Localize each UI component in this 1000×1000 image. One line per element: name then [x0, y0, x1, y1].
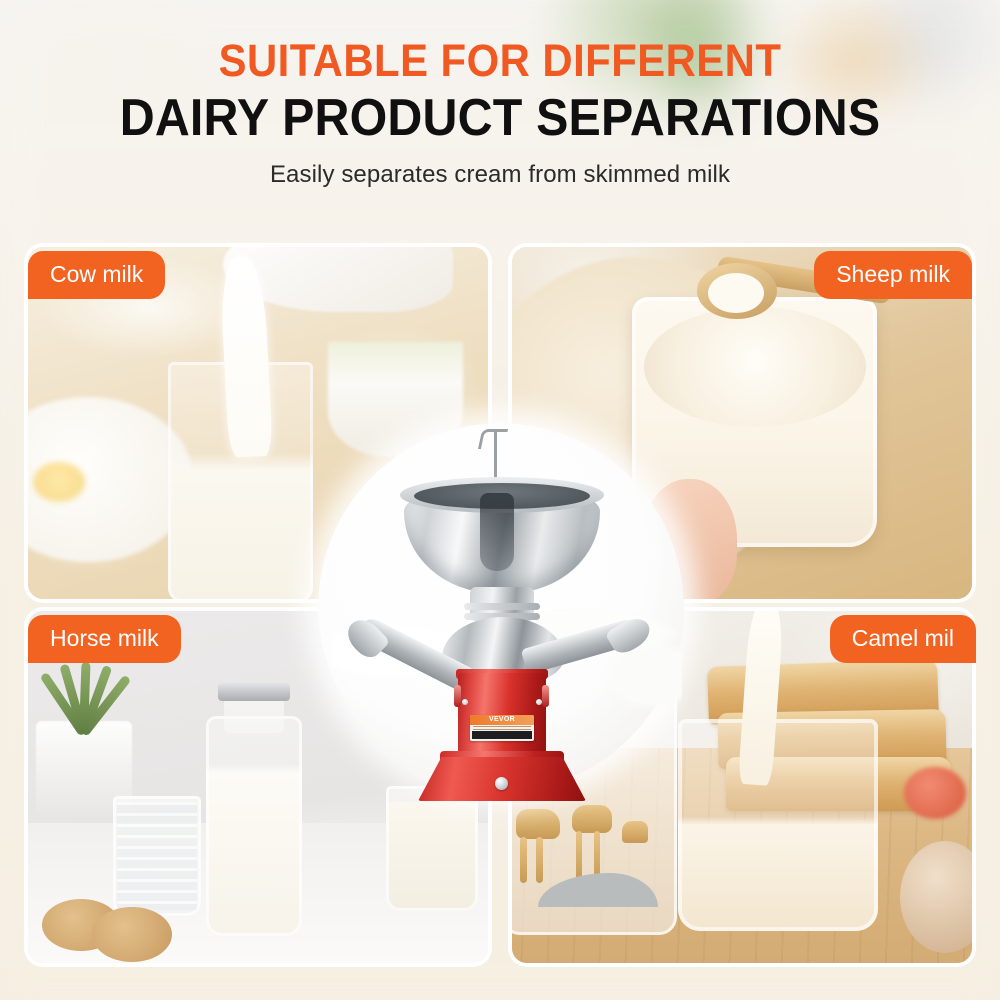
bowl-shadow: [480, 493, 514, 571]
spoon-cream: [708, 273, 764, 313]
sand-dune: [538, 873, 658, 907]
label-dark-strip: [472, 731, 532, 739]
cream-surface: [644, 307, 866, 427]
badge-camel-milk: Camel mil: [830, 615, 976, 663]
brand-name: VEVOR: [470, 715, 534, 725]
body-clip: [542, 685, 549, 707]
headline-line-2: DAIRY PRODUCT SEPARATIONS: [35, 91, 965, 146]
egg-yolk: [33, 462, 85, 502]
product-showcase: VEVOR: [318, 423, 684, 791]
subtitle: Easily separates cream from skimmed milk: [0, 161, 1000, 189]
header: SUITABLE FOR DIFFERENT DAIRY PRODUCT SEP…: [0, 38, 1000, 189]
body-clip: [454, 685, 461, 707]
body-screw: [462, 699, 468, 705]
neck-ring: [464, 603, 540, 610]
tomato: [904, 767, 966, 819]
milk-glass: [678, 719, 878, 931]
cookie: [92, 907, 172, 962]
badge-cow-milk: Cow milk: [28, 251, 165, 299]
badge-horse-milk: Horse milk: [28, 615, 181, 663]
body-screw: [536, 699, 542, 705]
camel-illustration: [512, 795, 660, 915]
headline-line-1: SUITABLE FOR DIFFERENT: [35, 38, 965, 84]
empty-ribbed-glass: [113, 796, 201, 916]
badge-sheep-milk: Sheep milk: [814, 251, 972, 299]
product-spec-label: VEVOR: [470, 715, 534, 741]
bottle-cap: [218, 683, 290, 701]
milk-bottle: [206, 716, 302, 936]
glass-of-milk: [386, 786, 478, 911]
milk-cream-separator-product: VEVOR: [376, 427, 626, 787]
wire-hook: [478, 429, 508, 449]
base-screw: [495, 777, 508, 790]
